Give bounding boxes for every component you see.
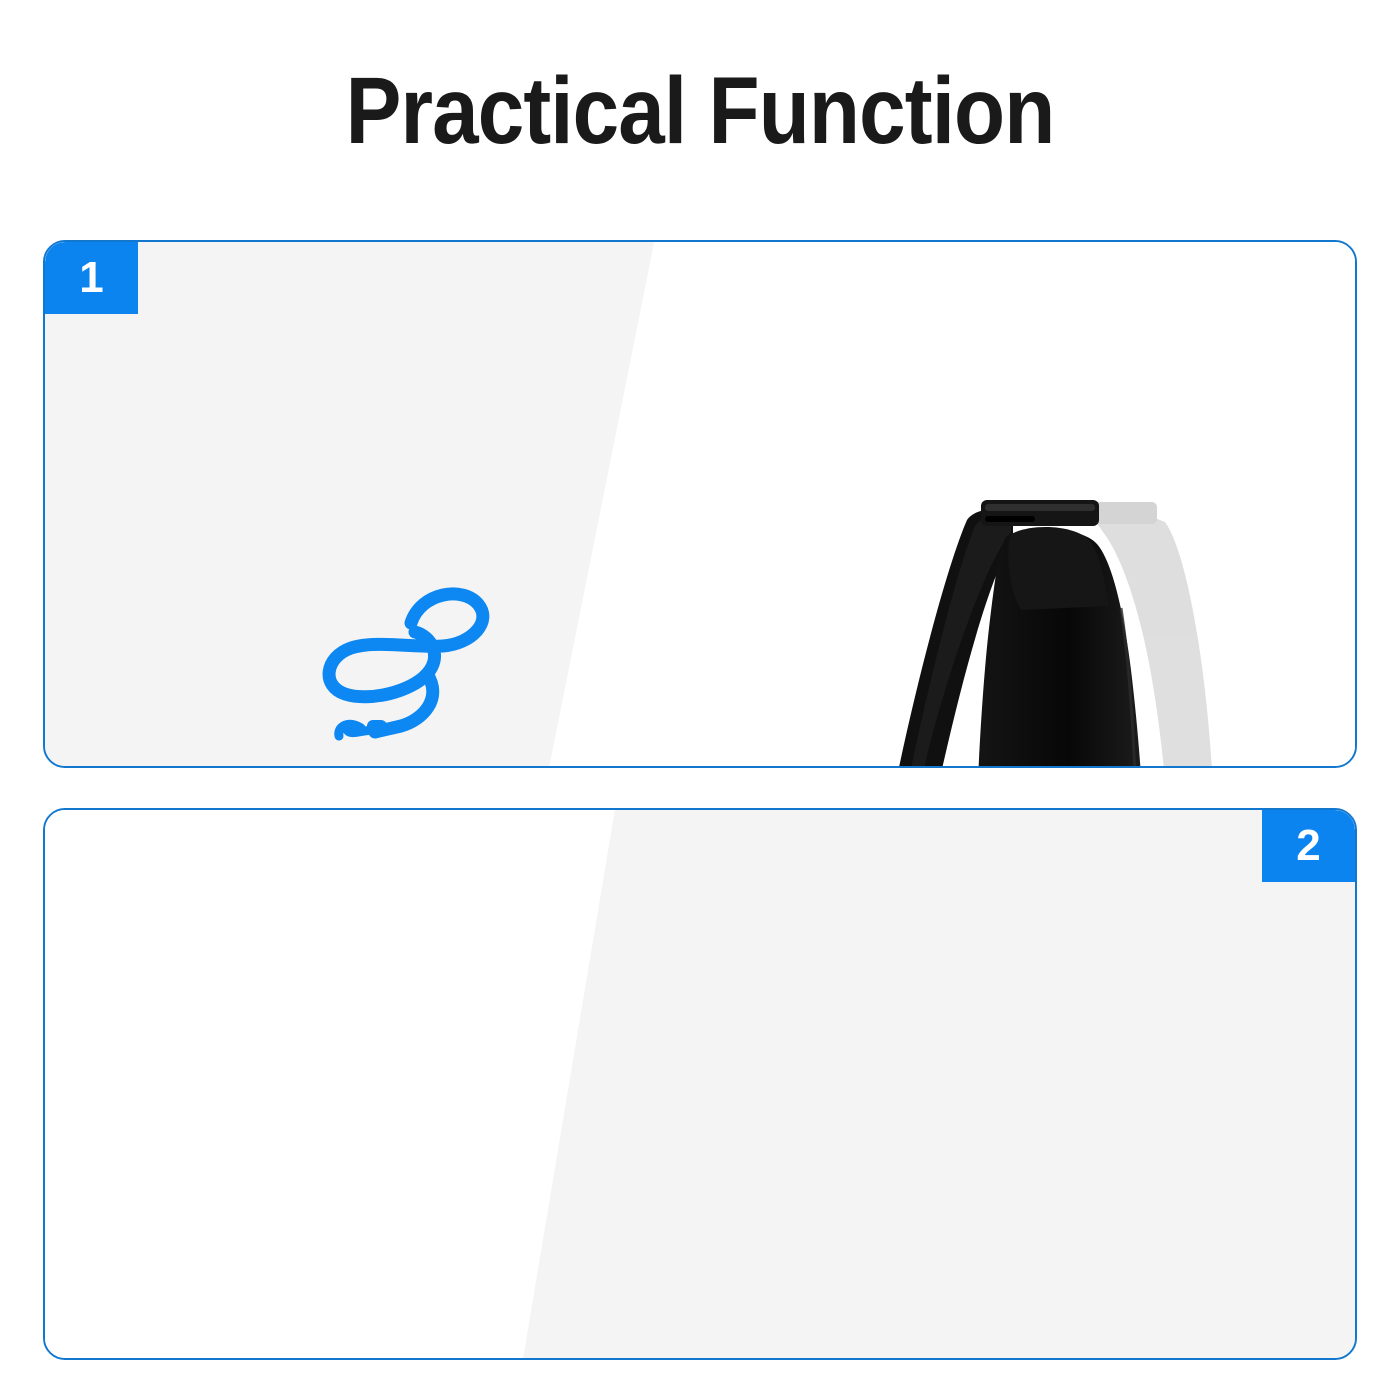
feature-card-1: 1 Ambidextrous Strap Adjust the cross-ov… — [43, 240, 1357, 768]
sling-bag-back-photo — [835, 488, 1265, 768]
page-title: Practical Function — [84, 62, 1316, 162]
diagonal-split-background-2 — [45, 810, 1355, 1358]
strap-icon — [303, 570, 523, 750]
feature-card-2: 2 — [43, 808, 1357, 1360]
feature-text-1: Ambidextrous Strap Adjust the cross-over… — [85, 767, 745, 768]
infographic-page: Practical Function 1 — [0, 0, 1400, 1400]
feature-title-1: Ambidextrous Strap — [105, 767, 725, 768]
feature-badge-2: 2 — [1262, 810, 1355, 882]
feature-badge-1: 1 — [45, 242, 138, 314]
